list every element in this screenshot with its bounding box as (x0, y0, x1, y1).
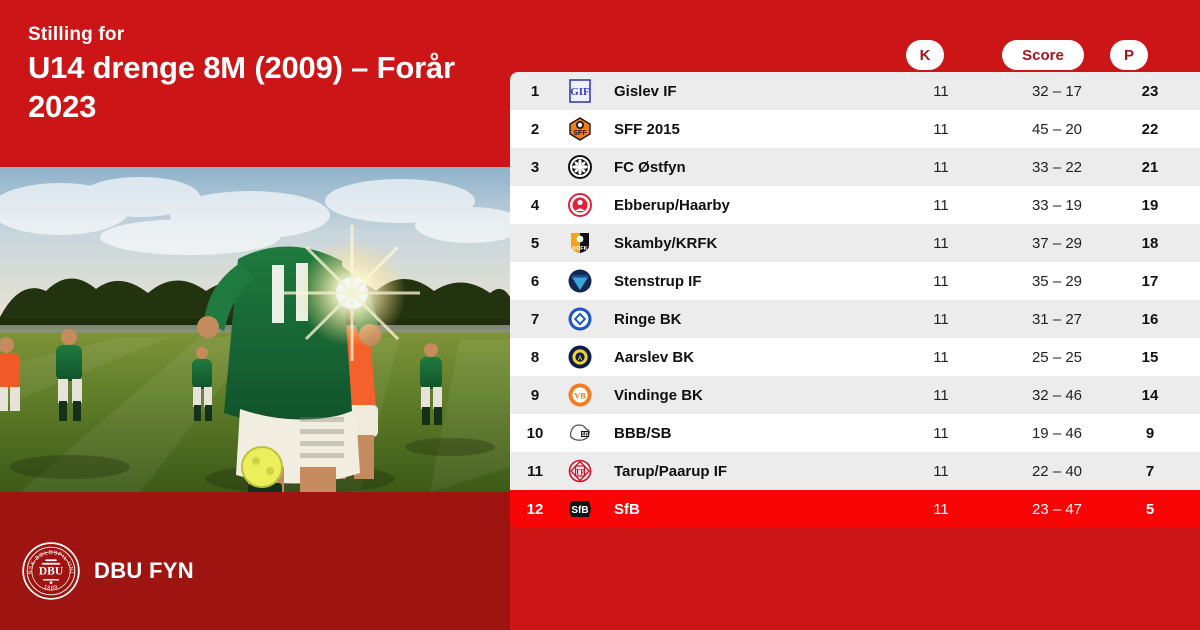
row-position: 3 (510, 159, 560, 176)
table-row[interactable]: 11 TP Tarup/Paarup IF 11 22 – 40 7 (510, 452, 1200, 490)
column-header-played: K (906, 40, 944, 70)
ebberup-haarby-logo (560, 192, 600, 218)
row-position: 9 (510, 387, 560, 404)
table-row[interactable]: 8 A Aarslev BK 11 25 – 25 15 (510, 338, 1200, 376)
stenstrup-if-logo (560, 268, 600, 294)
tarup-paarup-if-logo: TP (560, 458, 600, 484)
row-team-name: Aarslev BK (600, 349, 906, 366)
sfb-logo: SfB (560, 496, 600, 522)
row-team-name: Ebberup/Haarby (600, 197, 906, 214)
kicker-label: Stilling for (28, 24, 124, 46)
svg-text:SFF: SFF (573, 130, 587, 137)
svg-text:SB: SB (582, 432, 589, 438)
svg-text:KRFK: KRFK (572, 246, 587, 252)
row-points: 22 (1112, 121, 1188, 138)
row-team-name: Gislev IF (600, 83, 906, 100)
row-position: 6 (510, 273, 560, 290)
table-row[interactable]: 3 (510, 148, 1200, 186)
table-row[interactable]: 1 GIF Gislev IF 11 32 – 17 23 (510, 72, 1200, 110)
aarslev-bk-logo: A (560, 344, 600, 370)
football-match-photo (0, 167, 510, 492)
table-row[interactable]: 12 SfB SfB 11 23 – 47 5 (510, 490, 1200, 528)
row-points: 9 (1112, 425, 1188, 442)
row-points: 17 (1112, 273, 1188, 290)
left-panel: Stilling for U14 drenge 8M (2009) – Forå… (0, 0, 510, 630)
row-position: 7 (510, 311, 560, 328)
row-team-name: Tarup/Paarup IF (600, 463, 906, 480)
column-header-score: Score (1002, 40, 1084, 70)
row-position: 2 (510, 121, 560, 138)
standings-table: 1 GIF Gislev IF 11 32 – 17 23 2 SFF (510, 72, 1200, 528)
svg-text:SfB: SfB (571, 505, 588, 516)
row-score: 35 – 29 (1002, 273, 1112, 290)
vindinge-bk-logo: VB (560, 382, 600, 408)
row-position: 10 (510, 425, 560, 442)
svg-text:TP: TP (575, 468, 585, 477)
svg-text:VB: VB (574, 391, 586, 401)
page-title: U14 drenge 8M (2009) – Forår 2023 (28, 48, 498, 127)
row-points: 14 (1112, 387, 1188, 404)
row-played: 11 (906, 273, 976, 290)
row-played: 11 (906, 197, 976, 214)
row-score: 37 – 29 (1002, 235, 1112, 252)
row-played: 11 (906, 235, 976, 252)
table-row[interactable]: 7 Ringe BK 11 31 – 27 16 (510, 300, 1200, 338)
row-points: 7 (1112, 463, 1188, 480)
bbb-sb-logo: SB (560, 420, 600, 446)
row-played: 11 (906, 387, 976, 404)
row-points: 23 (1112, 83, 1188, 100)
row-points: 15 (1112, 349, 1188, 366)
row-played: 11 (906, 311, 976, 328)
table-row[interactable]: 2 SFF SFF 2015 11 45 – 20 22 (510, 110, 1200, 148)
svg-text:GIF: GIF (570, 86, 590, 98)
brand-name: DBU FYN (94, 558, 194, 584)
row-points: 19 (1112, 197, 1188, 214)
row-played: 11 (906, 425, 976, 442)
svg-text:DBU: DBU (39, 564, 64, 577)
football-match-photo-art (0, 167, 510, 492)
table-row[interactable]: 9 VB Vindinge BK 11 32 – 46 14 (510, 376, 1200, 414)
row-team-name: SFF 2015 (600, 121, 906, 138)
row-score: 31 – 27 (1002, 311, 1112, 328)
row-position: 4 (510, 197, 560, 214)
standings-panel: K Score P 1 GIF Gislev IF 11 32 – 17 23 … (510, 0, 1200, 630)
ringe-bk-logo (560, 306, 600, 332)
table-row[interactable]: 5 KRFK Skamby/KRFK 11 37 – 29 18 (510, 224, 1200, 262)
row-played: 11 (906, 159, 976, 176)
svg-text:1889: 1889 (43, 584, 59, 591)
title-banner: Stilling for U14 drenge 8M (2009) – Forå… (0, 0, 510, 167)
row-position: 11 (510, 463, 560, 480)
footer-bar: DANSK BOLDSPIL UNION 1889 DBU DBU FYN (0, 492, 510, 630)
row-score: 22 – 40 (1002, 463, 1112, 480)
column-header-points: P (1110, 40, 1148, 70)
row-position: 8 (510, 349, 560, 366)
row-team-name: Ringe BK (600, 311, 906, 328)
row-points: 5 (1112, 501, 1188, 518)
row-position: 5 (510, 235, 560, 252)
row-team-name: BBB/SB (600, 425, 906, 442)
skamby-krfk-logo: KRFK (560, 230, 600, 256)
sff-2015-logo: SFF (560, 116, 600, 142)
row-played: 11 (906, 83, 976, 100)
row-score: 19 – 46 (1002, 425, 1112, 442)
dbu-crest-icon: DANSK BOLDSPIL UNION 1889 DBU (22, 542, 80, 600)
gislev-if-logo: GIF (560, 78, 600, 104)
row-score: 25 – 25 (1002, 349, 1112, 366)
row-score: 32 – 46 (1002, 387, 1112, 404)
table-header: K Score P (510, 0, 1200, 72)
row-points: 16 (1112, 311, 1188, 328)
row-team-name: Skamby/KRFK (600, 235, 906, 252)
row-score: 33 – 22 (1002, 159, 1112, 176)
table-row[interactable]: 6 Stenstrup IF 11 35 – 29 17 (510, 262, 1200, 300)
row-score: 33 – 19 (1002, 197, 1112, 214)
row-score: 45 – 20 (1002, 121, 1112, 138)
row-played: 11 (906, 463, 976, 480)
row-position: 12 (510, 501, 560, 518)
table-row[interactable]: 10 SB BBB/SB 11 19 – 46 9 (510, 414, 1200, 452)
svg-text:A: A (578, 356, 583, 362)
row-played: 11 (906, 501, 976, 518)
row-points: 21 (1112, 159, 1188, 176)
row-score: 23 – 47 (1002, 501, 1112, 518)
table-row[interactable]: 4 Ebberup/Haarby 11 33 – 19 19 (510, 186, 1200, 224)
row-team-name: SfB (600, 501, 906, 518)
row-position: 1 (510, 83, 560, 100)
row-team-name: FC Østfyn (600, 159, 906, 176)
brand-row: DANSK BOLDSPIL UNION 1889 DBU DBU FYN (22, 542, 194, 600)
row-team-name: Vindinge BK (600, 387, 906, 404)
row-played: 11 (906, 349, 976, 366)
row-points: 18 (1112, 235, 1188, 252)
row-played: 11 (906, 121, 976, 138)
row-team-name: Stenstrup IF (600, 273, 906, 290)
fc-oestfyn-logo (560, 154, 600, 180)
row-score: 32 – 17 (1002, 83, 1112, 100)
